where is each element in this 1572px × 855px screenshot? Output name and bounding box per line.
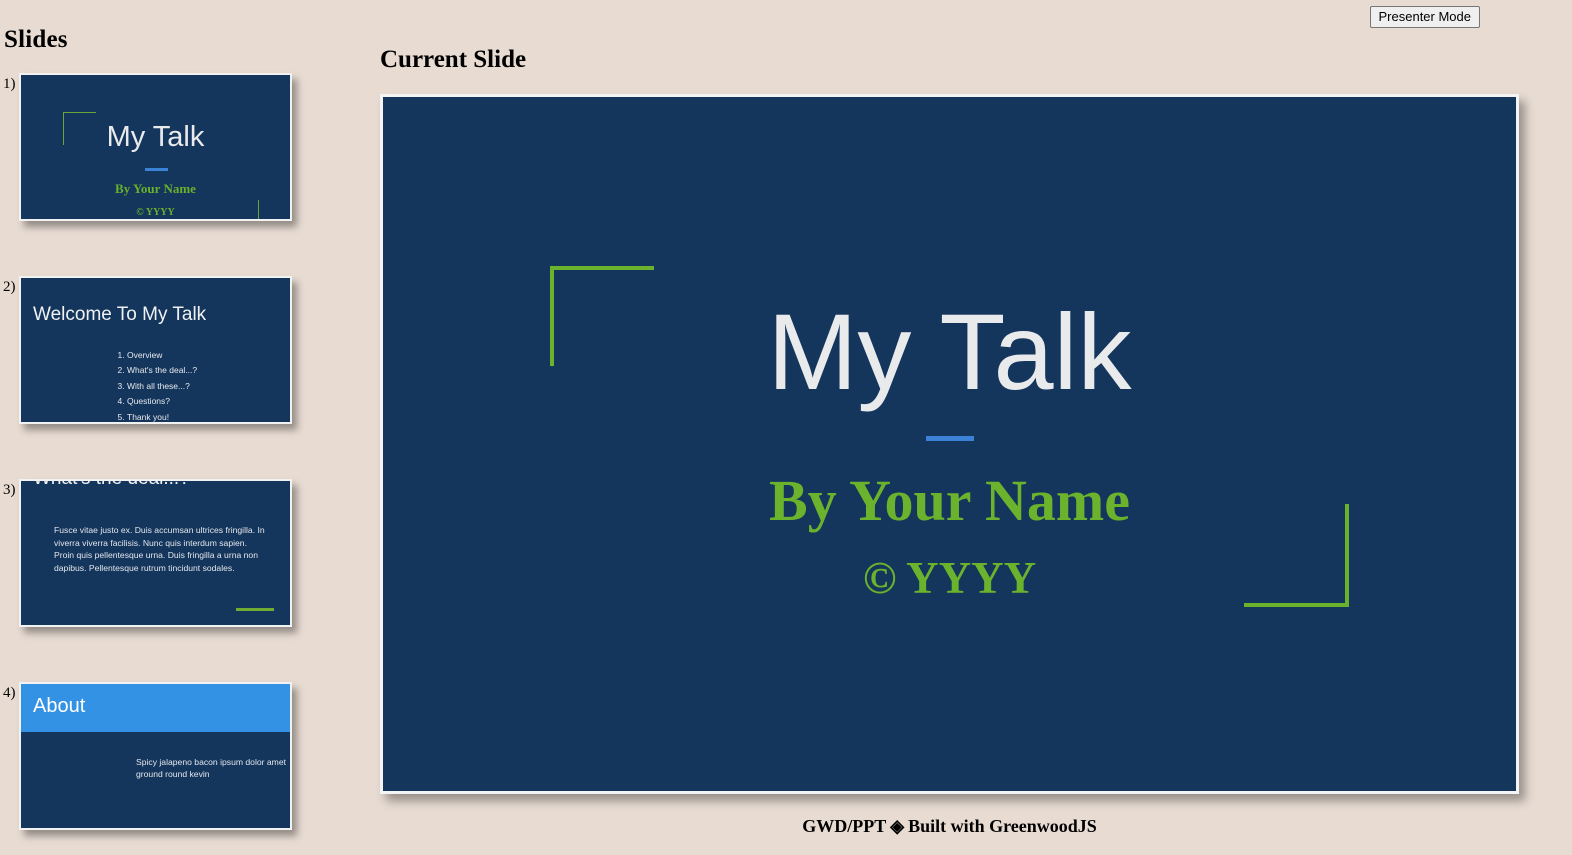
agenda-list-item: What's the deal...? [127, 363, 197, 378]
slide-thumbnail-3[interactable]: What's the deal...? Fusce vitae justo ex… [19, 479, 292, 627]
current-slide-heading: Current Slide [380, 46, 526, 74]
thumbnail-title: My Talk [21, 121, 290, 154]
slide-thumbnail-row: 4) About Spicy jalapeno bacon ipsum dolo… [0, 677, 360, 855]
sidebar-title: Slides [4, 26, 68, 54]
presenter-mode-button[interactable]: Presenter Mode [1370, 6, 1481, 28]
thumbnail-body-text: Spicy jalapeno bacon ipsum dolor amet gr… [136, 756, 292, 781]
thumbnail-body-text: Fusce vitae justo ex. Duis accumsan ultr… [54, 524, 269, 574]
agenda-list-item: Overview [127, 348, 197, 363]
slide-thumbnail-1[interactable]: My Talk By Your Name © YYYY [19, 73, 292, 221]
agenda-list-item: Questions? [127, 394, 197, 409]
footer-brand: GWD/PPT [802, 816, 886, 836]
slide-index-label: 4) [3, 685, 16, 702]
title-underline-rule [926, 436, 974, 441]
thumbnail-agenda-list: OverviewWhat's the deal...?With all thes… [103, 348, 197, 424]
slide-thumbnail-4[interactable]: About Spicy jalapeno bacon ipsum dolor a… [19, 682, 292, 830]
thumbnail-title: What's the deal...? [33, 479, 190, 490]
presentation-app: Presenter Mode Slides 1) My Talk By Your… [0, 0, 1572, 855]
slide-index-label: 1) [3, 76, 16, 93]
slide-index-label: 2) [3, 279, 16, 296]
slide-copyright: © YYYY [383, 552, 1516, 604]
agenda-list-item: With all these...? [127, 379, 197, 394]
thumbnail-author: By Your Name [21, 181, 290, 197]
slide-thumbnail-row: 3) What's the deal...? Fusce vitae justo… [0, 474, 360, 677]
slide-title: My Talk [383, 292, 1516, 412]
accent-rule [236, 608, 274, 611]
slide-thumbnail-list: 1) My Talk By Your Name © YYYY 2) Welcom… [0, 68, 360, 855]
footer: GWD/PPT◈Built with GreenwoodJS [380, 816, 1519, 837]
title-underline-rule [145, 168, 168, 171]
slide-thumbnail-row: 2) Welcome To My Talk OverviewWhat's the… [0, 271, 360, 474]
slide-thumbnail-2[interactable]: Welcome To My Talk OverviewWhat's the de… [19, 276, 292, 424]
slides-sidebar: Slides 1) My Talk By Your Name © YYYY 2) [0, 0, 360, 855]
thumbnail-copyright: © YYYY [21, 207, 290, 218]
thumbnail-title: Welcome To My Talk [33, 304, 206, 326]
current-slide-canvas[interactable]: My Talk By Your Name © YYYY [380, 94, 1519, 794]
diamond-separator-icon: ◈ [890, 816, 904, 836]
thumbnail-title: About [33, 695, 85, 718]
slide-index-label: 3) [3, 482, 16, 499]
slide-thumbnail-row: 1) My Talk By Your Name © YYYY [0, 68, 360, 271]
agenda-list-item: Thank you! [127, 410, 197, 424]
slide-author: By Your Name [383, 467, 1516, 534]
footer-tagline: Built with GreenwoodJS [908, 816, 1097, 836]
